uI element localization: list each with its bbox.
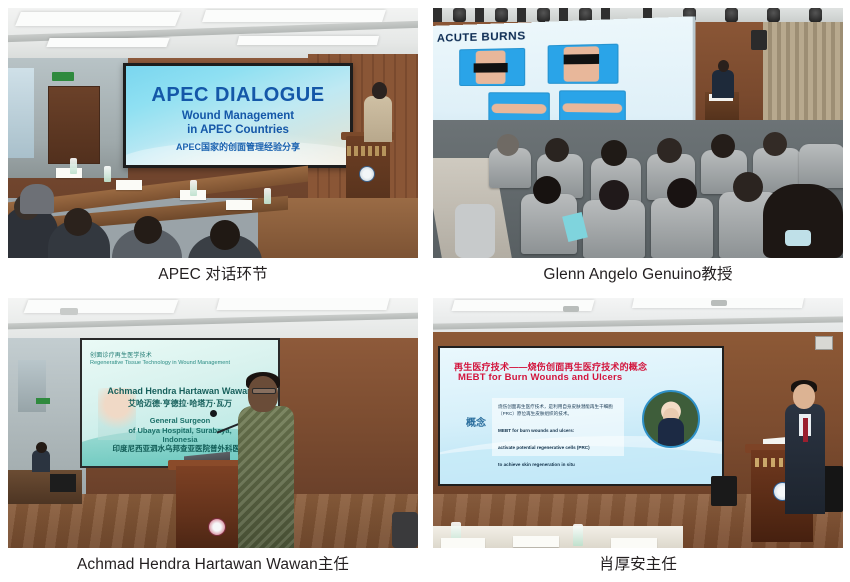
podium-emblem-icon [208, 518, 226, 536]
gallery-cell-3: 创面诊疗再生医学技术 Regenerative Tissue Technolog… [8, 298, 418, 582]
attendee-head [733, 172, 763, 202]
photo-gallery: APEC DIALOGUE Wound Management in APEC C… [0, 0, 850, 582]
name-card [56, 168, 82, 178]
stage-light-icon [767, 8, 780, 22]
slide-subtitle-line1: Wound Management [126, 110, 350, 122]
presentation-screen: APEC DIALOGUE Wound Management in APEC C… [123, 63, 353, 168]
stage-light-icon [495, 8, 508, 22]
audience [8, 194, 308, 258]
slide-photo [459, 48, 525, 86]
ceiling-vent [563, 306, 579, 312]
attendee [763, 184, 843, 258]
door [48, 86, 100, 164]
attendee-head [601, 140, 627, 166]
window [18, 360, 46, 412]
seat [455, 204, 495, 258]
water-bottle [573, 524, 583, 546]
chair [392, 512, 418, 548]
ceiling-vent [60, 308, 78, 315]
ceiling-light-panel [202, 10, 386, 22]
ceiling-vent [711, 300, 727, 306]
ceiling-light-panel [216, 298, 389, 310]
podium-inscription [347, 146, 389, 156]
floor-monitor [50, 474, 76, 492]
exit-sign [36, 398, 50, 404]
attendee-head [667, 178, 697, 208]
water-bottle [104, 166, 111, 182]
podium-emblem-icon [359, 166, 375, 182]
slide-header-chinese: 创面诊疗再生医学技术 [90, 350, 152, 359]
speaker-tie [803, 418, 808, 442]
name-card [441, 538, 485, 548]
speaker-head [793, 384, 815, 409]
slide-body-english-1: MEBT for burn wounds and ulcers: [492, 422, 624, 439]
wall-speaker [751, 30, 767, 50]
photo-xiao-houan[interactable]: 再生医疗技术——烧伤创面再生医疗技术的概念 MEBT for Burn Woun… [433, 298, 843, 548]
floor-monitor [711, 476, 737, 506]
speaker-body [712, 70, 734, 98]
seated-person [32, 450, 50, 472]
wall-sign [815, 336, 833, 350]
window [8, 68, 34, 158]
slide-photo [559, 90, 626, 124]
face-mask [785, 230, 811, 246]
speaker-body [364, 96, 392, 142]
photo-caption-1: APEC 对话环节 [8, 258, 418, 292]
gallery-cell-1: APEC DIALOGUE Wound Management in APEC C… [8, 8, 418, 292]
slide-body-english-3: to achieve skin regeneration in situ [492, 456, 624, 473]
photo-achmad-hendra-hartawan-wawan[interactable]: 创面诊疗再生医学技术 Regenerative Tissue Technolog… [8, 298, 418, 548]
name-card [611, 538, 657, 548]
attendee-head [497, 134, 519, 156]
speaker-head [718, 60, 729, 72]
ceiling-light-panel [46, 38, 169, 47]
presentation-screen: 再生医疗技术——烧伤创面再生医疗技术的概念 MEBT for Burn Woun… [438, 346, 724, 486]
photo-caption-2: Glenn Angelo Genuino教授 [433, 258, 843, 292]
attendee-head [210, 220, 240, 250]
ceiling-light-panel [15, 12, 181, 26]
slide-section-label: 概念 [466, 414, 486, 429]
seat [799, 144, 843, 188]
slide-body-chinese: 烧伤创面再生医疗技术，是利用自身皮肤潜能再生干细胞（PRC）原位再生皮肤组织的技… [492, 398, 624, 422]
exit-sign [52, 72, 74, 81]
slide-body-english-2: activate potential regenerative cells (P… [492, 439, 624, 456]
slide-portrait [642, 390, 700, 448]
attendee-head [545, 138, 569, 162]
water-bottle [70, 158, 77, 174]
attendee-head [599, 180, 629, 210]
slide-header-english: Regenerative Tissue Technology in Wound … [90, 360, 272, 366]
speaker-head [248, 376, 278, 412]
speaker-head [372, 82, 387, 99]
eyeglasses-icon [252, 388, 276, 394]
stage-light-icon [537, 8, 550, 22]
photo-caption-4: 肖厚安主任 [433, 548, 843, 582]
photo-caption-3: Achmad Hendra Hartawan Wawan主任 [8, 548, 418, 582]
ceiling-light-panel [24, 300, 179, 313]
slide-title: ACUTE BURNS [437, 30, 526, 45]
slide-photo [548, 44, 619, 84]
attendee [20, 184, 54, 214]
attendee-head [134, 216, 162, 244]
slide-subtitle-line2: in APEC Countries [126, 124, 350, 136]
stage-light-icon [809, 8, 822, 22]
photo-glenn-angelo-genuino[interactable]: ACUTE BURNS [433, 8, 843, 258]
ceiling-light-panel [237, 36, 379, 45]
slide-title-english: MEBT for Burn Wounds and Ulcers [458, 372, 622, 383]
stage-light-icon [453, 8, 466, 22]
attendee-head [711, 134, 735, 158]
seated-person-head [36, 442, 47, 453]
gallery-cell-4: 再生医疗技术——烧伤创面再生医疗技术的概念 MEBT for Burn Woun… [433, 298, 843, 582]
slide-subtitle-chinese: APEC国家的创面管理经验分享 [126, 140, 350, 153]
microphone-icon [210, 410, 217, 417]
photo-apec-dialogue[interactable]: APEC DIALOGUE Wound Management in APEC C… [8, 8, 418, 258]
name-card [513, 536, 559, 547]
attendee-head [763, 132, 787, 156]
attendee-head [64, 208, 92, 236]
stage-light-icon [725, 8, 738, 22]
slide-title: APEC DIALOGUE [126, 84, 350, 107]
slide-text-box: 烧伤创面再生医疗技术，是利用自身皮肤潜能再生干细胞（PRC）原位再生皮肤组织的技… [492, 398, 624, 456]
attendee-head [533, 176, 561, 204]
attendee-head [657, 138, 682, 163]
name-card [116, 180, 142, 190]
gallery-cell-2: ACUTE BURNS [433, 8, 843, 292]
speaker-body [238, 406, 294, 548]
